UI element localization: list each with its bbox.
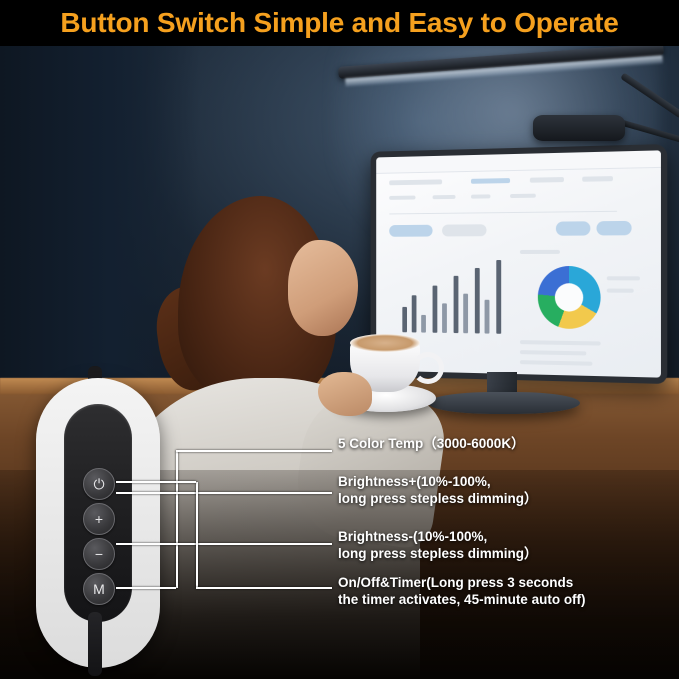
lamp-mount-head	[533, 115, 625, 141]
plus-icon: +	[95, 512, 103, 526]
coffee-surface	[350, 334, 420, 352]
screen-donut-chart	[538, 266, 601, 329]
screen-toolbar	[376, 150, 661, 174]
leader-line-brightness-up	[116, 492, 332, 494]
page-title: Button Switch Simple and Easy to Operate	[60, 7, 618, 39]
brightness-down-button[interactable]: −	[83, 538, 115, 570]
person-face	[288, 240, 358, 336]
coffee-cup-handle	[412, 352, 444, 384]
remote-cable-bottom	[88, 612, 102, 676]
callout-color-temp: 5 Color Temp（3000-6000K）	[338, 435, 525, 452]
power-icon: ⏻	[93, 477, 104, 491]
callout-brightness-up: Brightness+(10%-100%, long press steples…	[338, 473, 538, 507]
leader-line-mode-from-button	[116, 587, 176, 589]
monitor-base	[428, 392, 580, 414]
leader-line-vertical-power	[196, 482, 198, 588]
mode-button[interactable]: M	[83, 573, 115, 605]
power-button[interactable]: ⏻	[83, 468, 115, 500]
brightness-up-button[interactable]: +	[83, 503, 115, 535]
product-infographic: Button Switch Simple and Easy to Operate…	[0, 0, 679, 679]
leader-line-vertical-mode	[176, 451, 178, 588]
leader-line-mode-to-label	[176, 450, 332, 452]
leader-line-brightness-down	[116, 543, 332, 545]
minus-icon: −	[95, 547, 103, 561]
mode-letter-icon: M	[93, 582, 105, 596]
leader-line-power-from-button	[116, 481, 196, 483]
callout-brightness-down: Brightness-(10%-100%, long press steples…	[338, 528, 538, 562]
title-banner: Button Switch Simple and Easy to Operate	[0, 0, 679, 46]
callout-power-timer: On/Off&Timer(Long press 3 seconds the ti…	[338, 574, 586, 608]
leader-line-power-to-label	[196, 587, 332, 589]
